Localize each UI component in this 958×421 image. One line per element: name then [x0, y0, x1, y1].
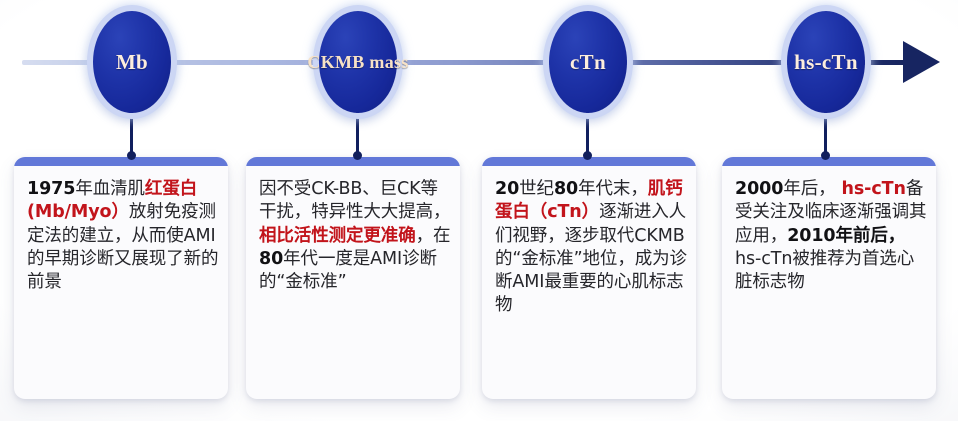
connector-dot-icon	[127, 151, 136, 160]
description-card-hs-ctn[interactable]: 2000年后， hs-cTn备受关注及临床逐渐强调其应用，2010年前后，hs-…	[722, 157, 936, 399]
connector-line-ctn	[586, 108, 589, 156]
card-text: 因不受CK-BB、巨CK等干扰，特异性大大提高，相比活性测定更准确，在80年代一…	[246, 166, 460, 399]
text-run-red: 相比活性测定更准确	[259, 226, 416, 246]
text-run-bold: 20	[495, 179, 519, 199]
text-run-bold: 2010	[787, 226, 835, 246]
text-run-bold: 80	[554, 179, 578, 199]
text-run-red: hs-cTn	[836, 179, 906, 199]
description-card-mb[interactable]: 1975年血清肌红蛋白(Mb/Myo）放射免疫测定法的建立，从而使AMI的早期诊…	[14, 157, 228, 399]
text-run-dark: 因不受CK-BB、巨CK等干扰，特异性大大提高，	[259, 179, 450, 222]
timeline-node-label: hs-cTn	[794, 50, 858, 75]
connector-dot-icon	[821, 151, 830, 160]
text-run-bold: 1975	[27, 179, 75, 199]
connector-line-ckmb	[356, 108, 359, 156]
text-run-bold: 80	[259, 249, 283, 269]
card-accent-bar	[14, 157, 228, 166]
text-run-dark: ，在	[416, 226, 451, 246]
card-accent-bar	[246, 157, 460, 166]
timeline-node-ctn[interactable]: cTn	[549, 11, 627, 113]
timeline-node-mb[interactable]: Mb	[93, 11, 171, 113]
card-text: 20世纪80年代末，肌钙蛋白（cTn）逐渐进入人们视野，逐步取代CKMB的“金标…	[482, 166, 696, 399]
timeline-node-hs-ctn[interactable]: hs-cTn	[787, 11, 865, 113]
timeline-node-ckmb[interactable]: CKMB mass	[319, 11, 397, 113]
description-card-ckmb[interactable]: 因不受CK-BB、巨CK等干扰，特异性大大提高，相比活性测定更准确，在80年代一…	[246, 157, 460, 399]
card-accent-bar	[722, 157, 936, 166]
text-run-bold: 年前后，	[836, 226, 906, 246]
card-text: 1975年血清肌红蛋白(Mb/Myo）放射免疫测定法的建立，从而使AMI的早期诊…	[14, 166, 228, 399]
text-run-dark: 年血清肌	[75, 179, 145, 199]
connector-line-hs-ctn	[824, 108, 827, 156]
text-run-dark: 年后，	[783, 179, 835, 199]
timeline-node-label: cTn	[570, 50, 606, 75]
connector-dot-icon	[583, 151, 592, 160]
text-run-dark: hs-cTn被推荐为首选心脏标志物	[735, 249, 914, 292]
text-run-dark: 年代一度是AMI诊断的“金标准”	[259, 249, 437, 292]
text-run-bold: 2000	[735, 179, 783, 199]
text-run-dark: 年代末，	[578, 179, 648, 199]
description-card-ctn[interactable]: 20世纪80年代末，肌钙蛋白（cTn）逐渐进入人们视野，逐步取代CKMB的“金标…	[482, 157, 696, 399]
timeline-node-label: Mb	[116, 50, 148, 75]
connector-dot-icon	[353, 151, 362, 160]
card-text: 2000年后， hs-cTn备受关注及临床逐渐强调其应用，2010年前后，hs-…	[722, 166, 936, 399]
arrow-right-icon	[903, 41, 940, 83]
timeline-diagram: Mb CKMB mass cTn hs-cTn 1975年血清肌红蛋白(Mb/M…	[0, 0, 958, 421]
text-run-dark: 世纪	[519, 179, 554, 199]
timeline-node-label: CKMB mass	[307, 52, 408, 73]
connector-line-mb	[130, 108, 133, 156]
